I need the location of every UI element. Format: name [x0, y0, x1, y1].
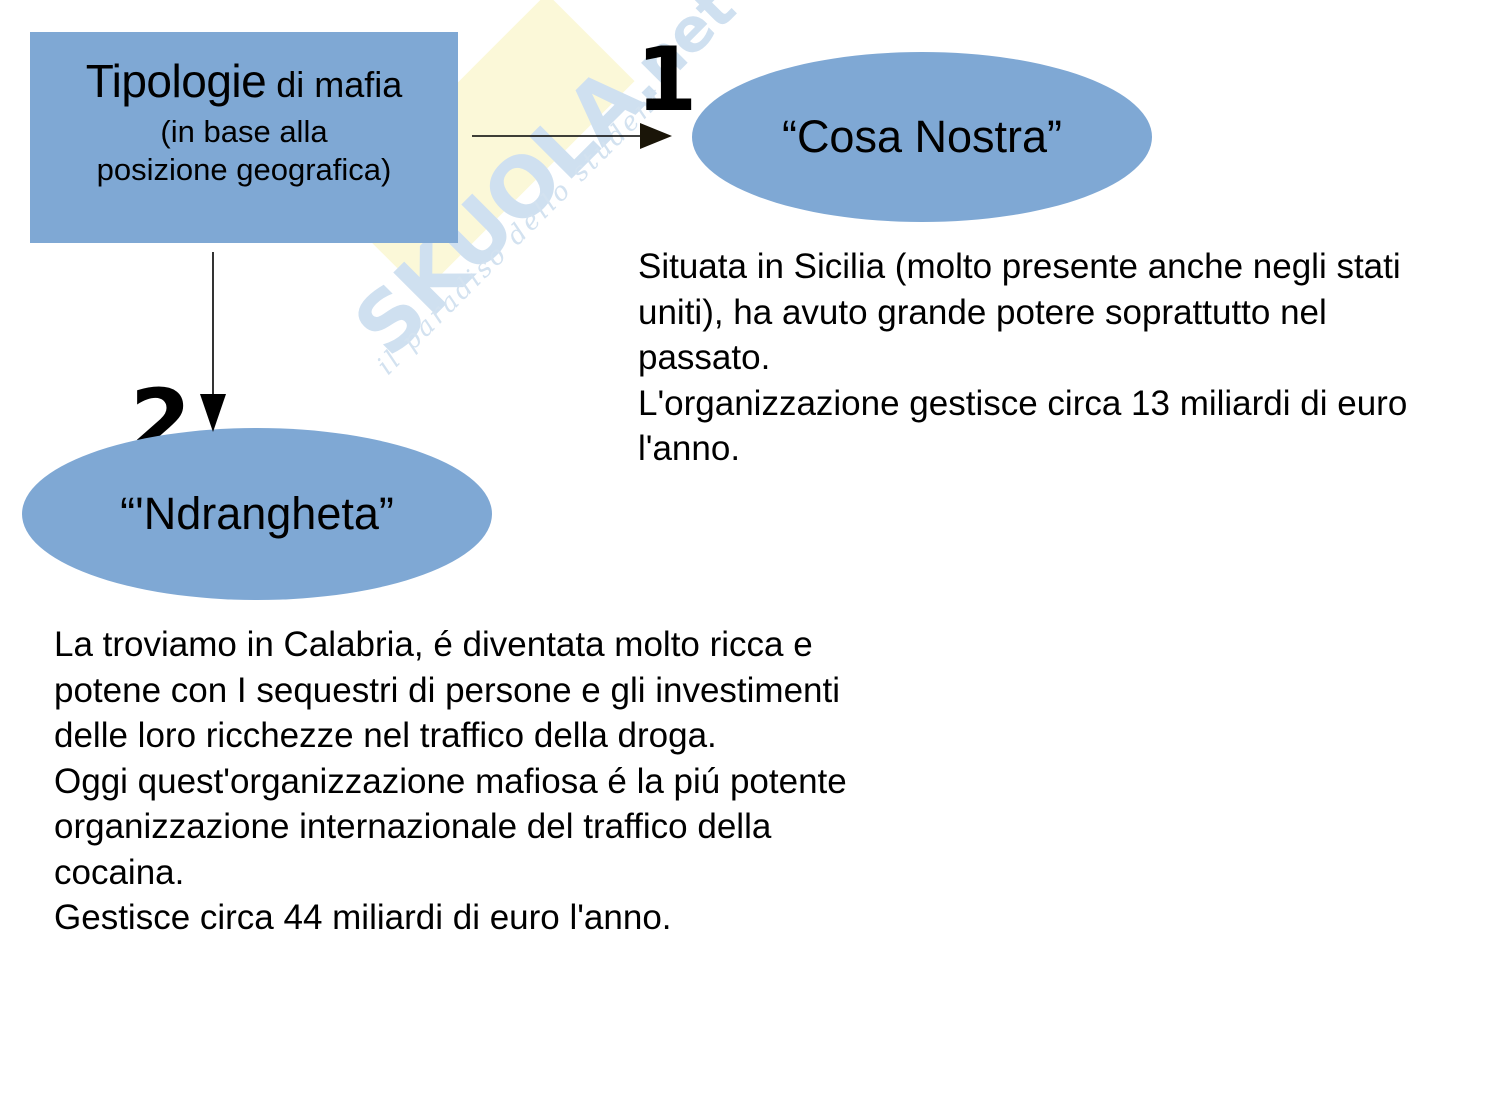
oval-ndrangheta: “'Ndrangheta” [22, 428, 492, 600]
title-box: Tipologie di mafia (in base alla posizio… [30, 32, 458, 243]
oval-cosa-nostra: “Cosa Nostra” [692, 52, 1152, 222]
title-subtitle-line-2: posizione geografica) [30, 151, 458, 189]
oval-label-cosa-nostra: “Cosa Nostra” [782, 111, 1062, 163]
slide-canvas: SKUOLA.net il paradiso dello studente Ti… [0, 0, 1489, 1116]
title-subtitle-line-1: (in base alla [30, 113, 458, 151]
arrow-down-icon [195, 252, 231, 432]
title-main-rest: di mafia [266, 64, 402, 105]
description-cosa-nostra: Situata in Sicilia (molto presente anche… [638, 244, 1428, 472]
title-main-line: Tipologie di mafia [30, 58, 458, 104]
step-number-1: 1 [636, 36, 697, 124]
oval-label-ndrangheta: “'Ndrangheta” [120, 488, 394, 540]
arrow-right-icon [472, 118, 672, 154]
title-main-strong: Tipologie [86, 55, 266, 107]
description-ndrangheta: La troviamo in Calabria, é diventata mol… [54, 622, 874, 941]
